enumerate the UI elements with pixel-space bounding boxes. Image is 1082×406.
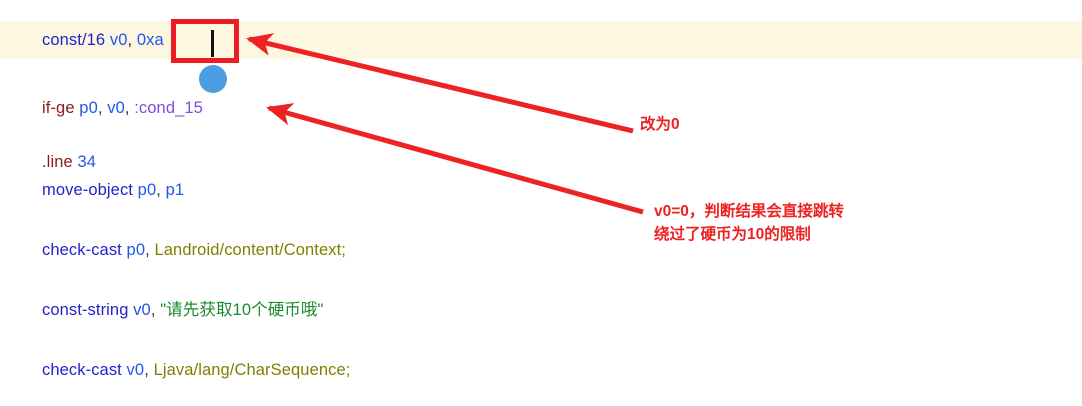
code-token-punc: , <box>156 181 165 199</box>
code-token-reg: p0 <box>79 99 98 117</box>
code-token-op: check-cast <box>42 241 122 259</box>
code-token-type: Landroid/content/Context; <box>154 241 345 259</box>
code-token-num: 0xa <box>137 31 164 49</box>
code-token-reg: v0 <box>107 99 125 117</box>
line-checkcast-context[interactable]: check-cast p0, Landroid/content/Context; <box>42 240 346 260</box>
code-token-punc: , <box>98 99 107 117</box>
code-token-reg: v0 <box>127 361 145 379</box>
value-edit-selection-box[interactable] <box>171 19 239 63</box>
code-token-opred: if-ge <box>42 99 75 117</box>
line-moveobject[interactable]: move-object p0, p1 <box>42 180 184 200</box>
line-ifge[interactable]: if-ge p0, v0, :cond_15 <box>42 98 203 118</box>
code-token-reg: v0 <box>133 301 151 319</box>
code-token-num: 34 <box>77 153 96 171</box>
code-token-punc: , <box>151 301 160 319</box>
code-token-op: const/16 <box>42 31 105 49</box>
code-token-punc: , <box>125 99 134 117</box>
code-token-op: move-object <box>42 181 133 199</box>
smali-code-editor[interactable]: const/16 v0, 0xaif-ge p0, v0, :cond_15.l… <box>0 0 1082 406</box>
line-conststring[interactable]: const-string v0, "请先获取10个硬币哦" <box>42 300 323 320</box>
code-token-punc: , <box>128 31 137 49</box>
line-dotline[interactable]: .line 34 <box>42 152 96 172</box>
code-token-op: check-cast <box>42 361 122 379</box>
code-token-opred: .line <box>42 153 73 171</box>
text-caret <box>211 30 214 57</box>
code-token-punc: , <box>144 361 153 379</box>
code-token-label: :cond_15 <box>134 99 203 117</box>
code-token-reg: p0 <box>138 181 157 199</box>
line-checkcast-charsequence[interactable]: check-cast v0, Ljava/lang/CharSequence; <box>42 360 350 380</box>
code-token-op: const-string <box>42 301 128 319</box>
code-token-reg: p0 <box>127 241 146 259</box>
text-cursor-handle-icon[interactable] <box>199 65 227 93</box>
code-token-reg: v0 <box>110 31 128 49</box>
code-token-type: Ljava/lang/CharSequence; <box>154 361 351 379</box>
code-token-str: "请先获取10个硬币哦" <box>160 301 323 319</box>
line-const16[interactable]: const/16 v0, 0xa <box>42 30 164 50</box>
code-token-reg: p1 <box>166 181 185 199</box>
